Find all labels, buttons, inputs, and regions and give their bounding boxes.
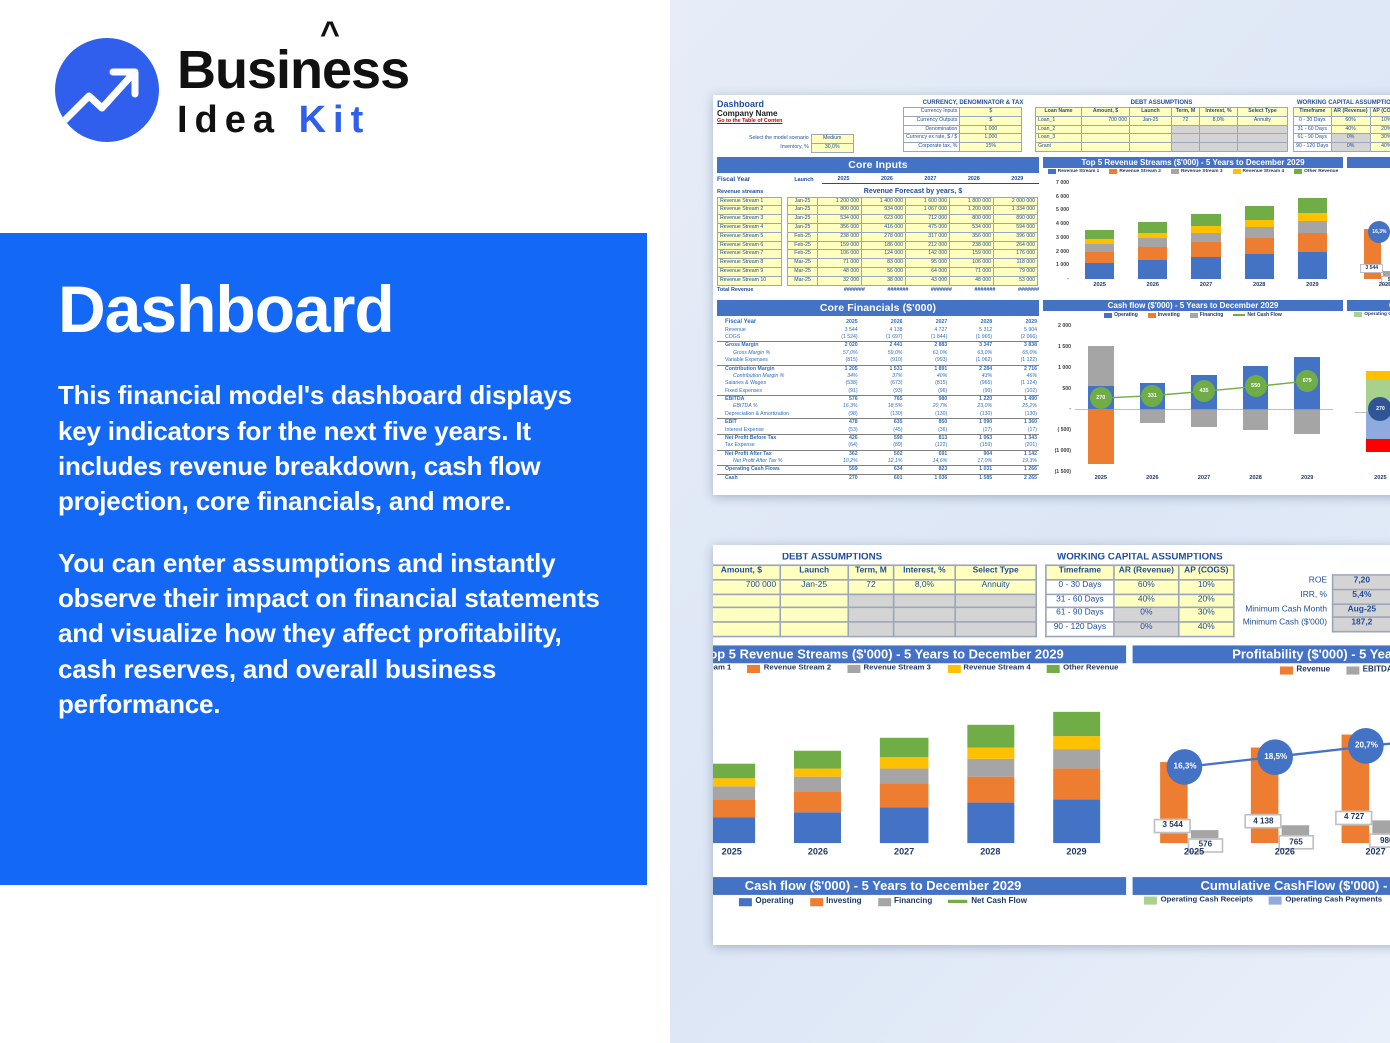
column-header: AR (Revenue) <box>1331 108 1370 117</box>
debt-block: DEBT ASSUMPTIONS Loan NameAmount, $Launc… <box>1035 100 1288 152</box>
x-axis-label: 2028 <box>1233 282 1286 288</box>
bar-segment <box>1138 222 1167 232</box>
y-axis-tick: 7 000 <box>1043 180 1069 186</box>
kpi-value: Aug-25 <box>1333 603 1390 617</box>
brand-circumflex: ^ <box>320 17 339 52</box>
debt-block-title: DEBT ASSUMPTIONS <box>713 553 1037 563</box>
column-header: Timeframe <box>1294 108 1332 117</box>
currency-value[interactable]: 1 000 <box>960 125 1022 134</box>
currency-value[interactable]: 15% <box>960 143 1022 152</box>
bar-segment <box>1245 238 1274 254</box>
kpi-value: 7,20 <box>1333 575 1390 589</box>
column-header: Launch <box>780 565 848 579</box>
chart-profitability: Profitability ($'000) - 5 Years to Decem… <box>1133 645 1390 875</box>
bar-segment <box>1298 252 1327 279</box>
table-row: Cash 2706011 0361 5852 265 <box>717 474 1039 482</box>
x-axis-label: 2029 <box>1286 282 1339 288</box>
bar-segment <box>1053 799 1100 843</box>
table-row[interactable]: Loan_1 700 000 Jan-25 72 8,0% Annuity <box>1036 116 1288 125</box>
table-row[interactable]: 0 - 30 Days 60% 10% <box>1294 116 1390 125</box>
brand-line-2-accent: Kit <box>299 99 371 141</box>
net-cash-bubble: 550 <box>1245 375 1267 397</box>
currency-value[interactable]: 1,000 <box>960 134 1022 143</box>
column-header: Amount, $ <box>1082 108 1130 117</box>
kpi-label: ROE <box>1240 575 1333 589</box>
chart-revenue-streams: Top 5 Revenue Streams ($'000) - 5 Years … <box>713 645 1126 875</box>
x-axis-label: 2028 <box>947 848 1033 858</box>
kpi-value: 5,4% <box>1333 589 1390 603</box>
table-row[interactable]: 90 - 120 Days 0% 40% <box>1294 143 1390 152</box>
bar-segment <box>1053 736 1100 749</box>
x-axis-label: 2026 <box>1126 282 1179 288</box>
table-of-contents-link[interactable]: Go to the Table of Conten <box>717 118 867 124</box>
currency-block-title: CURRENCY, DENOMINATOR & TAX <box>903 100 1043 106</box>
y-axis-tick: 4 000 <box>1043 221 1069 227</box>
column-header: Amount, $ <box>713 565 780 579</box>
column-header: Loan Name <box>1036 108 1082 117</box>
table-row: EBITDA 5767659801 2201 490 <box>717 396 1039 404</box>
table-row: Net Profit After Tax 3625026919041 142 <box>717 450 1039 458</box>
percent-bubble: 16,3% <box>1368 221 1390 243</box>
hero-paragraph-1: This financial model's dashboard display… <box>58 378 607 519</box>
bar-segment <box>1191 257 1220 279</box>
table-row[interactable]: Revenue Stream 9 Mar-25 48 00056 00064 0… <box>718 268 1038 277</box>
debt-block-title: DEBT ASSUMPTIONS <box>1035 100 1288 106</box>
bar-segment <box>967 725 1014 747</box>
bar-segment <box>1245 254 1274 279</box>
brand-logo: Business^ Idea Kit <box>55 38 409 142</box>
percent-bubble: 18,5% <box>1258 739 1294 775</box>
y-axis-tick: 5 000 <box>1043 207 1069 213</box>
x-axis-label: 2029 <box>1033 848 1119 858</box>
bar-segment <box>1191 233 1220 243</box>
currency-label: Currency Outputs <box>904 116 960 125</box>
table-row[interactable]: 61 - 90 Days 0% 30% <box>1294 134 1390 143</box>
bar-segment <box>967 803 1014 843</box>
bar-segment <box>967 776 1014 803</box>
bar-segment <box>967 747 1014 759</box>
growth-arrow-icon <box>55 38 159 142</box>
hero-paragraph-2: You can enter assumptions and instantly … <box>58 546 607 723</box>
column-header: Select Type <box>955 565 1036 579</box>
table-row: Net Profit After Tax % 10,2%12,1%14,6%17… <box>717 458 1039 466</box>
dashboard-screenshot-top: Dashboard Company Name Go to the Table o… <box>713 95 1390 495</box>
bar-segment <box>1138 238 1167 247</box>
x-axis-label: 2025 <box>713 848 775 858</box>
bar-segment <box>794 751 841 768</box>
bar-segment <box>1138 260 1167 279</box>
table-row: Contribution Margin 1 2051 5311 8912 284… <box>717 365 1039 373</box>
table-row: Tax Expense (64)(89)(122)(159)(201) <box>717 442 1039 450</box>
page-title: Dashboard <box>58 275 607 344</box>
table-row: COGS (1 524)(1 697)(1 844)(1 965)(2 066) <box>717 334 1039 342</box>
brand-line-1: Business^ <box>177 43 409 98</box>
table-row: Fixed Expenses (91)(93)(96)(99)(102) <box>717 388 1039 396</box>
kpi-block: ROE 7,20IRR, % 5,4%Minimum Cash Month Au… <box>1240 574 1390 633</box>
column-header: Timeframe <box>1046 565 1114 579</box>
bar-segment <box>794 791 841 812</box>
table-row[interactable]: Loan_1 700 000 Jan-25 72 8,0% Annuity <box>713 580 1036 594</box>
bar-segment <box>1138 233 1167 239</box>
table-row[interactable]: 0 - 30 Days 60% 10% <box>1046 580 1234 594</box>
bar-segment <box>880 808 927 844</box>
chart-profitability: Profitability ($'000) - 5 Years to Decem… <box>1347 157 1390 299</box>
bar-segment <box>1191 214 1220 226</box>
table-row: Interest Expense (53)(45)(36)(27)(17) <box>717 427 1039 435</box>
y-axis-tick: 2 000 <box>1043 249 1069 255</box>
bar-segment <box>713 787 755 799</box>
bar-segment <box>1245 220 1274 227</box>
bar-segment <box>1085 252 1114 263</box>
bar-segment <box>880 768 927 784</box>
company-name: Company Name <box>717 109 867 118</box>
table-row[interactable]: Loan_2 <box>713 594 1036 608</box>
currency-block: CURRENCY, DENOMINATOR & TAX Currency Inp… <box>903 100 1043 152</box>
table-row: Gross Margin 2 0202 4412 8833 3473 838 <box>717 342 1039 350</box>
table-row: Variable Expenses (815)(910)(993)(1 062)… <box>717 357 1039 365</box>
brand-line-2-dark: Idea <box>177 99 281 141</box>
table-row[interactable]: 61 - 90 Days 0% 30% <box>1046 608 1234 622</box>
column-header: Launch <box>1130 108 1172 117</box>
net-cash-bubble: 331 <box>1141 385 1163 407</box>
bar-segment <box>1053 749 1100 769</box>
net-cash-bubble: 270 <box>1090 387 1112 409</box>
core-financials-section: Core Financials ($'000) Fiscal Year20252… <box>717 300 1039 482</box>
table-row: Salaries & Wages (538)(673)(815)(965)(1 … <box>717 380 1039 387</box>
currency-value[interactable]: $ <box>960 116 1022 125</box>
table-row: EBITDA % 16,3%18,5%20,7%23,0%25,2% <box>717 403 1039 410</box>
wc-block-title: WORKING CAPITAL ASSUMPTIONS <box>1293 100 1390 106</box>
bar-segment <box>794 768 841 777</box>
inventory-input[interactable]: 30,0% <box>811 143 853 152</box>
currency-label: Denomination <box>904 125 960 134</box>
table-row[interactable]: Revenue Stream 3 Jan-25 534 000623 00071… <box>718 215 1038 224</box>
table-row[interactable]: Revenue Stream 4 Jan-25 356 000416 00047… <box>718 224 1038 233</box>
table-row[interactable]: Revenue Stream 7 Feb-25 106 000124 00014… <box>718 250 1038 259</box>
table-row[interactable]: Loan_3 <box>1036 134 1288 143</box>
bar-segment <box>1191 226 1220 233</box>
working-capital-block: WORKING CAPITAL ASSUMPTIONS TimeframeAR … <box>1293 100 1390 152</box>
table-row[interactable]: 31 - 60 Days 40% 20% <box>1046 594 1234 608</box>
kpi-value: 187,2 <box>1333 618 1390 632</box>
bar-segment <box>1298 213 1327 221</box>
currency-label: Corporate tax, % <box>904 143 960 152</box>
table-row: Net Profit Before Tax 4265908131 0631 34… <box>717 434 1039 442</box>
bar-segment <box>1298 198 1327 213</box>
cash-balance-bubble: 270 <box>1368 397 1390 421</box>
x-axis-label: 2026 <box>775 848 861 858</box>
kpi-label: Minimum Cash ($'000) <box>1240 618 1333 632</box>
table-row: Depreciation & Amortization (98)(130)(13… <box>717 411 1039 419</box>
table-row[interactable]: Revenue Stream 1 Jan-25 1 200 0001 400 0… <box>718 197 1038 206</box>
sheet-header: Dashboard Company Name Go to the Table o… <box>717 99 867 153</box>
column-header: AP (COGS) <box>1370 108 1390 117</box>
table-row[interactable]: Revenue Stream 5 Feb-25 238 000278 00031… <box>718 232 1038 241</box>
table-row[interactable]: Revenue Stream 8 Mar-25 71 00083 00095 0… <box>718 259 1038 268</box>
scenario-select[interactable]: Medium <box>811 135 853 144</box>
bar-segment <box>1085 230 1114 239</box>
x-axis-label: 2025 <box>1073 282 1126 288</box>
currency-label: Currency Inputs <box>904 108 960 117</box>
table-row[interactable]: Revenue Stream 2 Jan-25 800 000934 0001 … <box>718 206 1038 215</box>
bar-segment <box>1085 244 1114 251</box>
column-header: Term, M <box>848 565 893 579</box>
kpi-label: IRR, % <box>1240 589 1333 603</box>
currency-value[interactable]: $ <box>960 108 1022 117</box>
table-row[interactable]: Revenue Stream 6 Feb-25 159 000186 00021… <box>718 241 1038 250</box>
bar-segment <box>880 784 927 808</box>
bar-segment <box>794 777 841 791</box>
bar-segment <box>713 816 755 843</box>
bar-segment <box>1191 242 1220 257</box>
working-capital-block: WORKING CAPITAL ASSUMPTIONS TimeframeAR … <box>1045 553 1235 637</box>
bar-segment <box>794 812 841 843</box>
bar-segment <box>1245 227 1274 238</box>
wc-block-title: WORKING CAPITAL ASSUMPTIONS <box>1045 553 1235 563</box>
x-axis-label: 2027 <box>1179 282 1232 288</box>
bar-segment <box>880 738 927 757</box>
table-row: EBIT 4786358501 0901 360 <box>717 419 1039 427</box>
table-row: Contribution Margin % 34%37%40%43%46% <box>717 373 1039 380</box>
hero-panel: Dashboard This financial model's dashboa… <box>0 233 647 885</box>
core-financials-title: Core Financials ($'000) <box>717 300 1039 316</box>
kpi-label: Minimum Cash Month <box>1240 603 1333 617</box>
currency-label: Currency ex rate, $ / $ <box>904 134 960 143</box>
table-row: Revenue 3 5444 1384 7275 3125 904 <box>717 327 1039 334</box>
column-header: AR (Revenue) <box>1114 565 1179 579</box>
dashboard-screenshot-bottom: Dashboard Company Name Go to the Table o… <box>713 545 1390 945</box>
chart-revenue-streams: Top 5 Revenue Streams ($'000) - 5 Years … <box>1043 157 1343 299</box>
debt-block: DEBT ASSUMPTIONS Loan NameAmount, $Launc… <box>713 553 1037 637</box>
brand-line-2: Idea Kit <box>177 100 409 142</box>
y-axis-tick: 3 000 <box>1043 235 1069 241</box>
bar-segment <box>1085 239 1114 244</box>
table-row[interactable]: 90 - 120 Days 0% 40% <box>1046 622 1234 636</box>
bar-segment <box>1298 233 1327 251</box>
brand-line-1-text: Business <box>177 40 409 100</box>
table-row[interactable]: Revenue Stream 10 Mar-25 32 00038 00043 … <box>718 276 1038 285</box>
x-axis-label: 2027 <box>861 848 947 858</box>
sheet-title: Dashboard <box>717 99 867 109</box>
table-row: Operating Cash Flows 5596348231 0311 266 <box>717 466 1039 474</box>
table-row: Gross Margin % 57,0%59,0%61,0%63,0%65,0% <box>717 350 1039 357</box>
table-row[interactable]: Grant <box>713 622 1036 636</box>
y-axis-tick: 1 000 <box>1043 262 1069 268</box>
table-row[interactable]: Grant <box>1036 143 1288 152</box>
y-axis-tick: 6 000 <box>1043 194 1069 200</box>
column-header: Term, M <box>1172 108 1200 117</box>
bar-segment <box>713 764 755 779</box>
bar-segment <box>713 779 755 787</box>
bar-segment <box>880 757 927 768</box>
y-axis-tick: - <box>1043 276 1069 282</box>
chart-cash-flow: Cash flow ($'000) - 5 Years to December … <box>713 877 1126 945</box>
bar-segment <box>1138 247 1167 260</box>
table-row[interactable]: Loan_2 <box>1036 125 1288 134</box>
bar-segment <box>1053 712 1100 736</box>
chart-cash-flow: Cash flow ($'000) - 5 Years to December … <box>1043 300 1343 492</box>
bar-segment <box>1298 221 1327 233</box>
bar-segment <box>1053 769 1100 799</box>
chart-cumulative-cashflow: Cumulative CashFlow ($'000) - 5 Years to… <box>1133 877 1390 945</box>
page-root: Business^ Idea Kit Dashboard This financ… <box>0 0 1390 1043</box>
chart-cumulative-cashflow: Cumulative CashFlow ($'000) - 5 Years to… <box>1347 300 1390 492</box>
revenue-forecast-title: Revenue Forecast by years, $ <box>787 188 1039 195</box>
column-header: AP (COGS) <box>1179 565 1234 579</box>
core-inputs-title: Core Inputs <box>717 157 1039 173</box>
bar-segment <box>1245 206 1274 219</box>
bar-segment <box>967 759 1014 777</box>
column-header: Select Type <box>1238 108 1288 117</box>
column-header: Interest, % <box>894 565 956 579</box>
table-row[interactable]: Loan_3 <box>713 608 1036 622</box>
core-inputs-section: Core Inputs Fiscal Year Launch2025202620… <box>717 157 1039 293</box>
column-header: Interest, % <box>1200 108 1238 117</box>
bar-segment <box>713 799 755 817</box>
bar-segment <box>1085 263 1114 279</box>
table-row[interactable]: 31 - 60 Days 40% 20% <box>1294 125 1390 134</box>
